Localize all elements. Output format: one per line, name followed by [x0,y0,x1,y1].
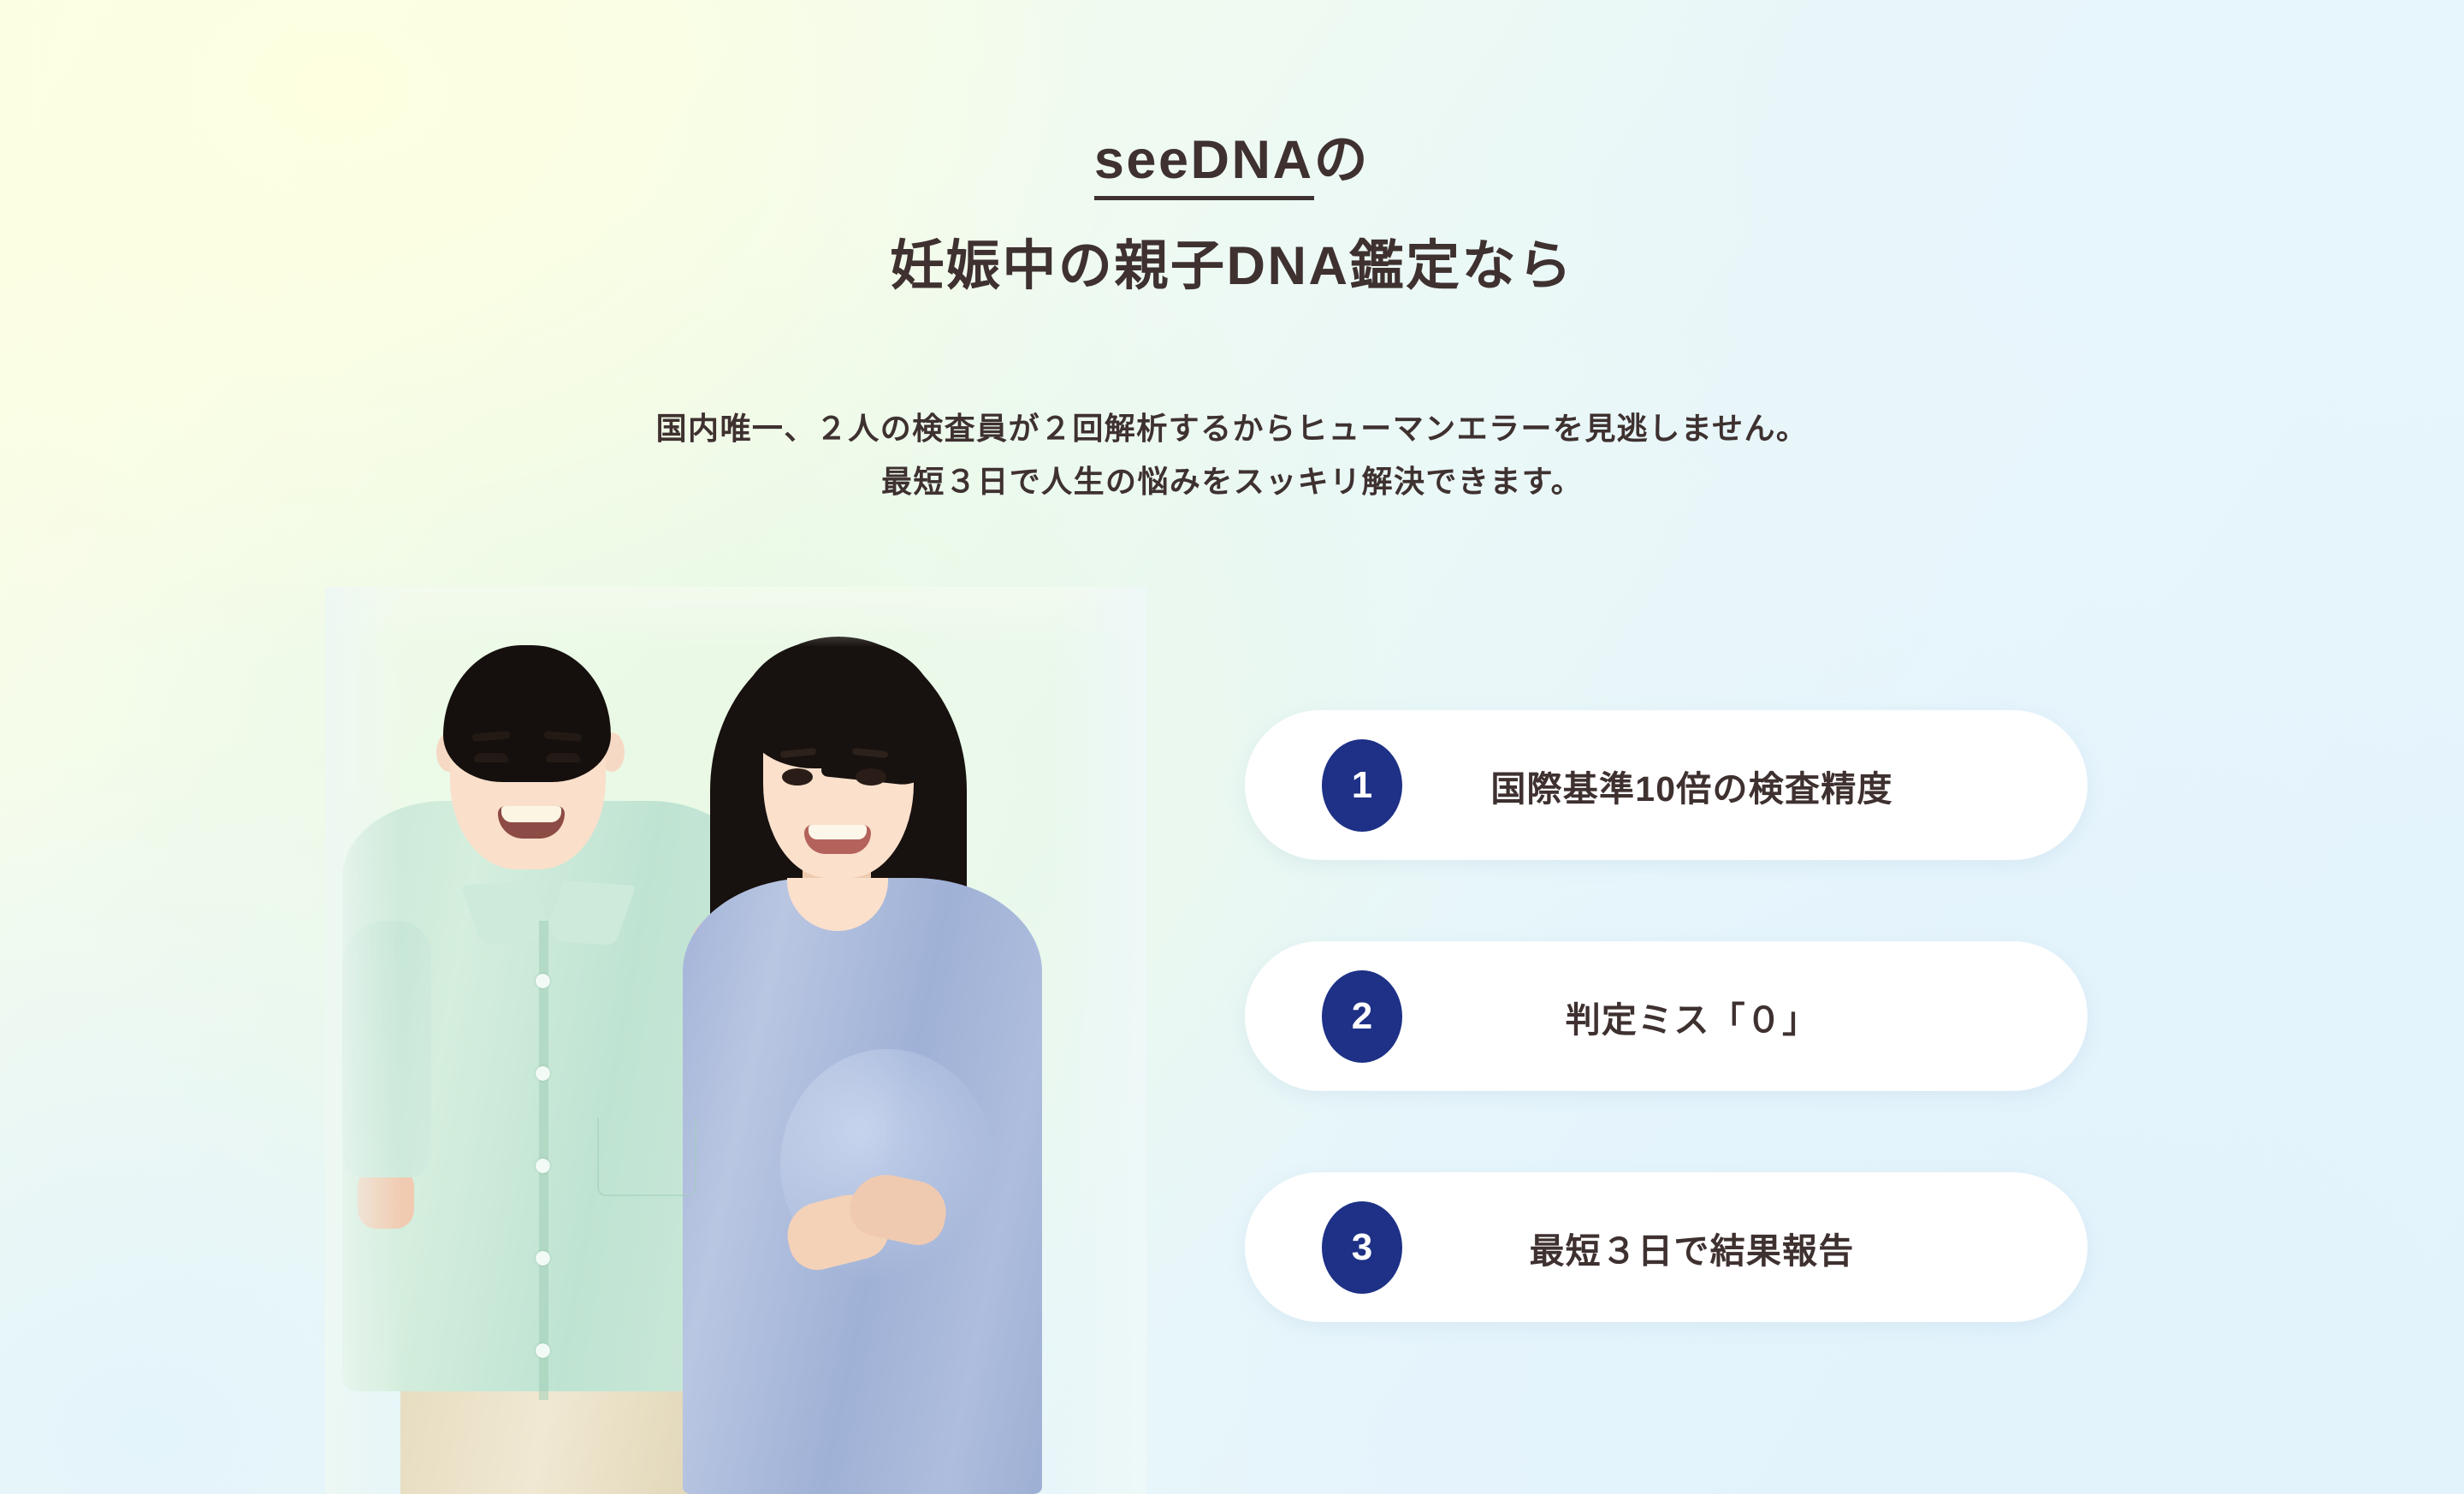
man-shirt-button [536,1343,550,1358]
woman-eye-left [782,768,813,786]
title-suffix: の [1314,130,1371,190]
feature-card-3[interactable]: 3 最短３日で結果報告 [1245,1172,2088,1322]
feature-number-badge-2: 2 [1322,970,1402,1063]
feature-card-list: 1 国際基準10倍の検査精度 2 判定ミス「０」 3 最短３日で結果報告 [1245,710,2088,1322]
page-title-line-1: seeDNAの [0,127,2464,194]
feature-number-badge-3: 3 [1322,1201,1402,1294]
man-arm-left [342,921,431,1177]
headline-block: seeDNAの 妊娠中の親子DNA鑑定なら [0,127,2464,300]
lead-line-2: 最短３日で人生の悩みをスッキリ解決できます。 [0,455,2464,508]
feature-card-2[interactable]: 2 判定ミス「０」 [1245,941,2088,1091]
photo-fade-right [1052,587,1146,1494]
hero-section: seeDNAの 妊娠中の親子DNA鑑定なら 国内唯一、２人の検査員が２回解析する… [0,0,2464,1494]
man-eye-right [546,753,580,762]
lead-line-1: 国内唯一、２人の検査員が２回解析するからヒューマンエラーを見逃しません。 [0,402,2464,455]
man-eye-left [474,753,508,762]
feature-card-1[interactable]: 1 国際基準10倍の検査精度 [1245,710,2088,860]
man-shirt-button [536,1159,550,1173]
woman-mouth [804,825,871,854]
woman-eye-right [856,768,886,786]
man-shirt-button [536,974,550,988]
lead-copy: 国内唯一、２人の検査員が２回解析するからヒューマンエラーを見逃しません。 最短３… [0,402,2464,508]
woman-figure [674,621,1051,1494]
feature-number-badge-1: 1 [1322,739,1402,832]
man-shirt-pocket [597,1118,696,1196]
couple-photo [325,587,1146,1494]
page-title-line-2: 妊娠中の親子DNA鑑定なら [0,233,2464,300]
man-shirt-button [536,1251,550,1266]
man-shirt-button [536,1066,550,1081]
brand-name: seeDNA [1094,130,1314,200]
man-hair [443,645,611,782]
